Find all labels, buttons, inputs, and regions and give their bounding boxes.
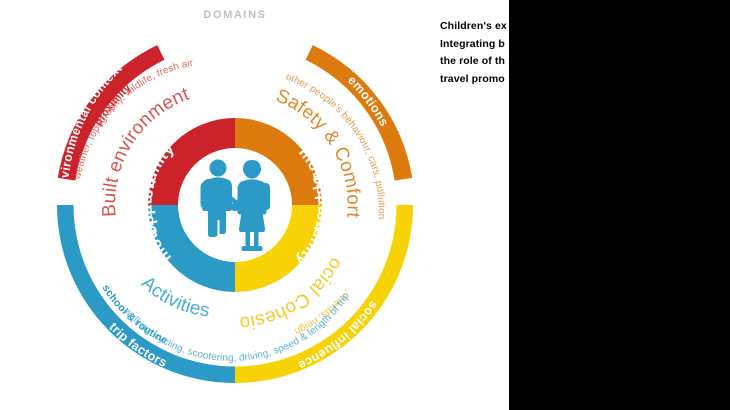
domains-label: DOMAINS (203, 9, 266, 21)
figure-page: DOMAINS environmental context emotions s… (0, 0, 730, 410)
redaction-overlay (509, 0, 730, 410)
socio-ecological-wheel-diagram: DOMAINS environmental context emotions s… (0, 0, 470, 410)
